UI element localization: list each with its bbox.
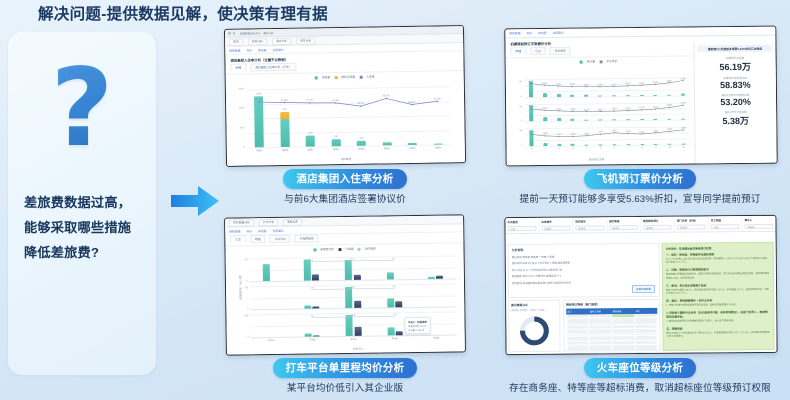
filter-seat-class[interactable]: 座位等级 请选择 (607, 217, 641, 232)
legend-swatch-icon (313, 248, 316, 251)
line-value-label: 57.6% (281, 98, 288, 101)
y-axis-tick: 78 (230, 258, 248, 261)
legend-label-trend: 均价趋势 (365, 247, 376, 251)
question-mark-icon: ? (51, 46, 114, 171)
x-axis-tick: 集团F (384, 146, 390, 150)
legend-label-unit-price: 单里程均价 (320, 247, 334, 251)
subtab-detail[interactable]: 明细 (510, 47, 526, 55)
col-department: 部门 (566, 308, 589, 314)
filter-button[interactable]: 筛选器 (538, 31, 546, 35)
line-value-label: 58.2% (383, 94, 390, 97)
analysis-info-box: 分析说明 座位等级 商务座 特等座 一等座 二等座 超标规则 职级 P6 及以下… (508, 243, 660, 298)
legend-label-volume: 预订量 (587, 59, 595, 63)
conclusion-subheader: 二、问题：制度执行与系统管控脱节 (666, 267, 770, 272)
filter-value[interactable]: 全部 (711, 224, 740, 229)
line-value-label: 1220 (598, 131, 603, 134)
screenshot-ride-hailing[interactable]: 用车数据分析 打车分析 里程均价 刷新数据 导出 筛选器 全屏展示 汇总 明细 … (224, 214, 466, 355)
filter-over-standard[interactable]: 是否超标预订 请选择 (641, 217, 675, 232)
info-line: 座位等级 商务座 特等座 一等座 二等座 (512, 253, 656, 258)
conclusion-subheader: 三、影响：单均成本显著高于标准 (666, 282, 770, 287)
filter-value[interactable]: 请选择 (609, 225, 638, 230)
tab-car[interactable]: 用车分析 (296, 37, 315, 44)
y-axis-tick: 0 (231, 335, 249, 338)
x-axis-tick: 集团D (333, 147, 340, 151)
filter-label: 出发城市 (541, 220, 570, 224)
filter-value[interactable]: 请选择 (541, 226, 570, 231)
filter-value[interactable]: 全部 (507, 226, 536, 231)
tab-ride[interactable]: 打车分析 (259, 218, 278, 225)
donut-legend: 商务座 / 特等座 / 一等座 / 二等座 (511, 308, 557, 312)
filter-button[interactable]: 筛选器 (258, 48, 266, 52)
caption-flight: 飞机预订票价分析 提前一天预订能够多享受5.63%折扣，宣导同学提前预订 (495, 169, 785, 205)
info-line: 数据更新 每日 06:00 全量同步 数据延迟 T+1 (512, 273, 656, 278)
caption-pill: 酒店集团入住率分析 (283, 169, 406, 189)
subtab-trip-table[interactable]: 行程明细表 (295, 234, 319, 242)
x-axis-tick: 集团C (307, 147, 314, 151)
conclusion-paragraph: 预计上线后 3 个月内超标订单下降 90% 以上，年度差旅费用节省 25 万 ~… (666, 332, 770, 340)
refresh-button[interactable]: 刷新数据 (229, 48, 240, 52)
tooltip-row: 订单量 2,164 单 (408, 327, 427, 331)
y-axis-tick: 92 (508, 105, 522, 108)
chart-plot-area: 9601720164015901560154515401550156515901… (524, 77, 691, 153)
conclusion-paragraph: 超标订单单均票价 486 元，标准座位等级单均票价 263 元，单均差额 223… (666, 288, 770, 296)
caption-pill: 打车平台单里程均价分析 (273, 358, 418, 378)
x-axis-tick: 0 (531, 147, 532, 150)
filter-passenger[interactable]: 乘车人 请选择 (743, 216, 776, 231)
x-axis-tick: 10 (668, 146, 671, 149)
tab-flight[interactable]: 机票分析 (248, 38, 267, 45)
y-axis-tick: 0 (508, 144, 522, 147)
donut-chart-panel: 座位等级占比 商务座 / 特等座 / 一等座 / 二等座 (508, 300, 560, 352)
caption-hotel: 酒店集团入住率分析 与前6大集团酒店签署协议价 (225, 169, 465, 205)
screenshot-train-seat-class[interactable]: 车次类型 全部 出发城市 请选择 到达城市 请选择 座位等级 请选择 是否超标预… (504, 215, 777, 355)
conclusion-paragraph: 3. 每月输出超标预订红榜通报至各部门负责人，纳入部门费用考核。 (666, 320, 770, 324)
line-value-label: 57.4% (306, 99, 313, 102)
legend-swatch-icon (334, 76, 337, 79)
table-title: 超标预订明细（部门维度） (566, 302, 657, 307)
refresh-button[interactable]: 刷新数据 (509, 31, 520, 35)
line-value-label: 1240 (529, 131, 534, 134)
caption-ride: 打车平台单里程均价分析 某平台均价低引入其企业版 (225, 358, 465, 394)
avg-fare-line (524, 77, 691, 153)
screenshot-flight-fare[interactable]: 刷新数据 导出 筛选器 全屏展示 机票提前预订天数票价分析 明细 汇总 票价趋势… (504, 26, 777, 167)
view-detail-button[interactable]: 查看明细数据 (632, 285, 655, 293)
x-axis-tick: 集团G (409, 146, 416, 150)
tab-car-data[interactable]: 用车数据分析 (229, 219, 254, 226)
conclusion-panel: 分析结论：取消超标座位等级预订权限 一、现状：商务座、特等座存在超标消费近 12… (662, 242, 775, 351)
chart-plot-area: 7805.25.45.19604.85.64.91080平台A4.6平台B5.8… (250, 255, 457, 342)
fullscreen-button[interactable]: 全屏展示 (553, 31, 564, 35)
filter-arrive-city[interactable]: 到达城市 请选择 (573, 217, 607, 232)
chrome-dot-icon (232, 32, 235, 35)
y-axis-tick: 108 (230, 314, 248, 317)
line-value-label: 1215 (639, 131, 644, 134)
filter-label: 乘车人 (745, 218, 774, 222)
x-axis-tick: 7 (628, 146, 629, 149)
caption-pill: 火车座位等级分析 (584, 358, 696, 378)
subtab-summary[interactable]: 汇总 (230, 235, 246, 243)
line-value-label: 1265 (612, 129, 617, 132)
x-axis-tick: 8 (641, 146, 642, 149)
legend-swatch-icon (358, 247, 361, 250)
over-standard-table-panel[interactable]: 超标预订明细（部门维度） 部门 超标订单数 超标金额 占比 (563, 299, 660, 352)
x-axis-tick: 11 (682, 146, 685, 149)
caption-sub: 存在商务座、特等座等超标消费，取消超标座位等级预订权限 (492, 380, 788, 394)
filter-label: 是否超标预订 (643, 219, 672, 223)
filter-train-type[interactable]: 车次类型 全部 (505, 218, 539, 233)
x-axis-tick: 4 (586, 147, 587, 150)
y-axis-tick: 1500 (229, 88, 244, 91)
col-amount: 超标金额 (612, 308, 635, 314)
line-value-label: 1250 (653, 129, 658, 132)
line-value-label: 57.8% (255, 98, 262, 101)
x-axis-title: 提前预订天数 (589, 157, 605, 161)
occupancy-rate-line (246, 86, 451, 147)
filter-label: 车次类型 (507, 220, 536, 224)
stat-header: 提前预订1天能够多享受5.63%折扣汇总指标 (697, 45, 772, 53)
legend-swatch-icon (359, 75, 362, 78)
x-axis-tick: 集团E (358, 147, 364, 151)
line-value-label: 1180 (584, 132, 589, 135)
x-axis-tick: 6 (614, 146, 615, 149)
line-value-label: 57.3% (332, 99, 339, 102)
x-axis-tick: 集团B (282, 148, 288, 152)
caption-sub: 某平台均价低引入其企业版 (225, 380, 465, 394)
table-row[interactable] (567, 351, 658, 355)
conclusion-paragraph: 差旅制度已明确座位等级标准，但预订系统未做强校验，员工可自由选择任意座位等级，事… (666, 273, 770, 281)
line-value-label: 1330 (681, 126, 686, 129)
legend-label-rate: 入住率 (366, 75, 374, 79)
info-line: 统计口径 近 12 个月已完成行程 含退改签订单 (512, 266, 656, 271)
conclusion-subheader: 四、建议：系统侧硬管控 + 例外白名单 (666, 298, 770, 303)
fullscreen-button[interactable]: 全屏展示 (272, 228, 283, 232)
refresh-button[interactable]: 刷新数据 (229, 229, 240, 233)
legend-label-fare: 平均票价 (606, 59, 617, 63)
question-mark-wrap: ? (8, 50, 156, 168)
subtab-summary[interactable]: 汇总 (530, 47, 546, 55)
info-title: 分析说明 (512, 247, 656, 252)
line-value-label: 1190 (543, 132, 548, 135)
filter-employee-level[interactable]: 员工职级 全部 (709, 216, 743, 231)
export-button[interactable]: 导出 (527, 31, 533, 35)
filter-label: 员工职级 (711, 218, 740, 222)
filter-value[interactable]: 请选择 (643, 225, 672, 230)
export-button[interactable]: 导出 (246, 48, 252, 52)
chrome-dot-icon (228, 32, 231, 35)
x-axis-tick: 集团A (256, 148, 262, 152)
conclusion-subheader: 五、预期收益 (666, 326, 770, 331)
line-value-label: 1230 (625, 130, 630, 133)
conclusion-subheader: 2. 保留极少量例外白名单（如长途夜间行程、身体特殊情况），由部门负责人 + 差… (666, 310, 770, 319)
tab-hotel[interactable]: 酒店分析 (272, 37, 291, 44)
x-axis-tick: 集团H (435, 145, 442, 149)
line-value-label: 1170 (556, 133, 561, 136)
window-title: 差旅数据分析平台 - 酒店分析 (240, 31, 273, 36)
filter-label: 到达城市 (575, 219, 604, 223)
caption-train: 火车座位等级分析 存在商务座、特等座等超标消费，取消超标座位等级预订权限 (492, 358, 788, 394)
conclusion-subheader: 一、现状：商务座、特等座存在超标消费 (666, 252, 770, 257)
legend-label-nights: 间夜量 (322, 75, 330, 79)
info-line: 超标规则 职级 P6 及以下仅可预订二等座 超标需审批 (512, 260, 656, 265)
legend-label-orders: 订单量 (345, 247, 353, 251)
question-text: 差旅费数据过高，能够采取哪些措施降低差旅费? (24, 190, 144, 265)
y-axis-tick: 0 (230, 307, 248, 310)
legend-swatch-icon (338, 248, 341, 251)
line-value-label: 56.4% (357, 102, 364, 105)
subtab-trend[interactable]: 票价趋势 (550, 47, 571, 55)
stat-column: 提前预订1天能够多享受5.63%折扣汇总指标 机票预订总金额 56.19万 机票… (693, 41, 776, 164)
x-axis-tick: 9 (655, 146, 656, 149)
donut-title: 座位等级占比 (511, 303, 557, 307)
filter-value[interactable]: 请选择 (677, 224, 706, 229)
caption-sub: 提前一天预订能够多享受5.63%折扣，宣导同学提前预订 (495, 191, 785, 205)
conclusion-header: 分析结论：取消超标座位等级预订权限 (666, 246, 770, 251)
x-axis-tick: 3 (572, 147, 573, 150)
x-axis-tick: 1 (545, 147, 546, 150)
y-axis-tick: 1000 (229, 107, 244, 110)
line-value-label: 1290 (667, 128, 672, 131)
conclusion-paragraph: 1. 在预订系统中按职级限制可选座位等级，超标选项直接置灰不可选； (666, 304, 770, 308)
stat-value-savings: 5.38万 (698, 114, 773, 128)
stat-value-total-amount: 56.19万 (698, 60, 773, 74)
stat-value-advance-discount: 53.20% (698, 97, 773, 108)
y-axis-tick: 96 (508, 80, 522, 83)
info-line: 管控建议 取消超标座位等级预订权限 回收例外白名单 (512, 279, 656, 284)
fullscreen-button[interactable]: 全屏展示 (272, 47, 283, 51)
y-axis-tick: 0 (508, 95, 522, 98)
filter-value[interactable]: 请选择 (575, 225, 604, 230)
question-card: ? 差旅费数据过高，能够采取哪些措施降低差旅费? (8, 32, 156, 375)
filter-button[interactable]: 筛选器 (258, 229, 266, 233)
subtab-platform-compare[interactable]: 平台对比 (270, 235, 291, 243)
screenshot-hotel-occupancy[interactable]: 差旅数据分析平台 - 酒店分析 首页 机票分析 酒店分析 用车分析 刷新数据 导… (224, 25, 466, 167)
filter-label: 座位等级 (609, 219, 638, 223)
filter-label: 部门名称（多选） (677, 218, 706, 222)
x-axis-title: 打车平台 (353, 347, 363, 351)
arrow-right-icon (170, 184, 220, 218)
tab-mileage[interactable]: 里程均价 (283, 218, 302, 225)
line-value-label: 56.6% (408, 100, 415, 103)
y-axis-tick: 500 (229, 126, 244, 129)
y-axis-tick: 0 (230, 146, 245, 149)
y-axis-title: 单里程均价（元/公里） (238, 273, 242, 300)
line-value-label: 57.3% (434, 97, 441, 100)
filter-value[interactable]: 请选择 (745, 224, 774, 229)
col-ratio: 占比 (634, 307, 657, 313)
col-order-count: 超标订单数 (589, 308, 612, 314)
line-value-label: 1165 (570, 133, 575, 136)
subtab-detail[interactable]: 明细 (230, 64, 246, 72)
filter-depart-city[interactable]: 出发城市 请选择 (539, 218, 573, 233)
x-axis-title: 酒店集团 (341, 157, 351, 161)
export-button[interactable]: 导出 (246, 229, 252, 233)
legend-swatch-icon (315, 76, 318, 79)
caption-pill: 飞机预订票价分析 (584, 169, 696, 189)
chart-tooltip: 平台C · 长途用车单里程均价 5.8 元订单量 2,164 单 (404, 317, 430, 334)
page-title: 解决问题-提供数据见解，使决策有理有据 (38, 2, 328, 24)
y-axis-tick: 0 (508, 120, 522, 123)
subtab-detail[interactable]: 明细 (250, 235, 266, 243)
x-axis-tick: 2 (558, 147, 559, 150)
caption-sub: 与前6大集团酒店签署协议价 (225, 191, 465, 205)
filter-department[interactable]: 部门名称（多选） 请选择 (675, 216, 709, 231)
filter-bar[interactable]: 车次类型 全部 出发城市 请选择 到达城市 请选择 座位等级 请选择 是否超标预… (505, 216, 775, 234)
donut-chart-icon (517, 314, 551, 348)
stat-value-discount-avg: 58.83% (698, 80, 773, 91)
legend-label-over: 超标间夜量 (341, 75, 355, 79)
legend-swatch-icon (580, 60, 583, 63)
x-axis-tick: 5 (600, 146, 601, 149)
tab-home[interactable]: 首页 (229, 38, 243, 45)
conclusion-paragraph: 近 12 个月共有 1,286 笔火车订单涉及商务座、特等座预订，其中 73.4… (666, 258, 770, 266)
y-axis-tick: 85 (508, 129, 522, 132)
chart-plot-area: 1500100050001580集团A210集团B330集团C230集团D150… (246, 86, 451, 147)
legend-swatch-icon (599, 60, 602, 63)
subtab-summary[interactable]: 酒店集团入住率分析（汇总） (250, 63, 296, 72)
